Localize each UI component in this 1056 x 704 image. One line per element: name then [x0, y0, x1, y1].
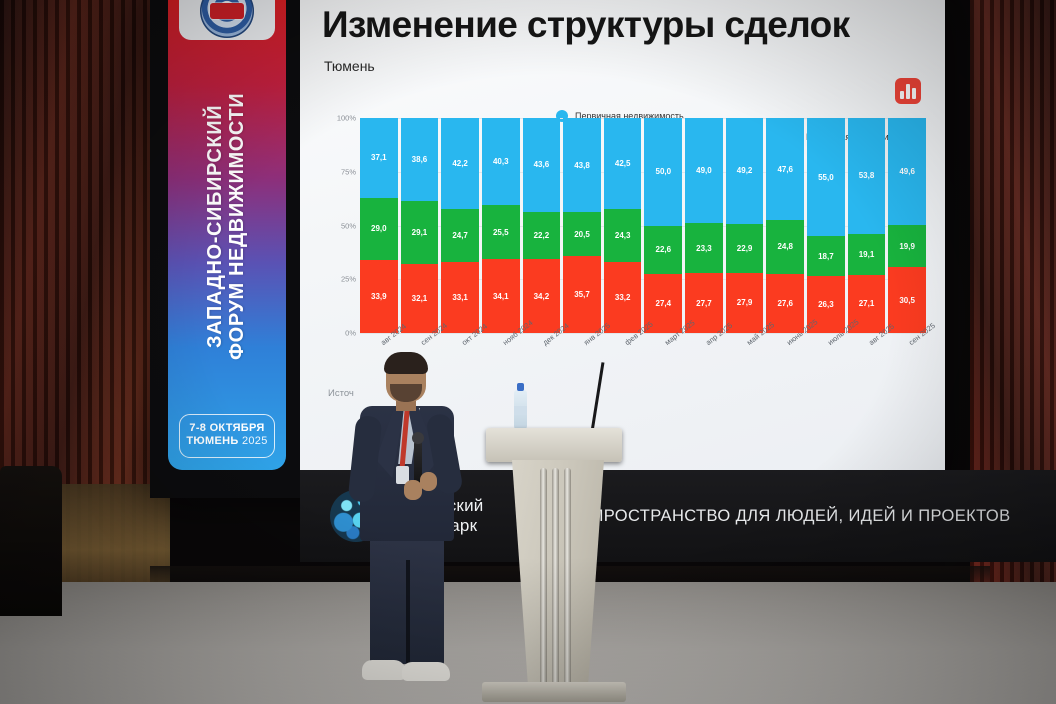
segment-value-label: 22,9 — [737, 244, 753, 253]
segment-value-label: 25,5 — [493, 228, 509, 237]
forum-banner-line2: ФОРУМ НЕДВИЖИМОСТИ — [227, 92, 249, 359]
segment-value-label: 55,0 — [818, 173, 834, 182]
segment-value-label: 34,2 — [534, 292, 550, 301]
x-axis-tick: нояб 2024 — [482, 334, 520, 392]
segment-primary: 50,0 — [644, 118, 682, 226]
shoe-right — [402, 662, 450, 681]
segment-value-label: 42,2 — [452, 159, 468, 168]
segment-primary: 43,8 — [563, 118, 601, 212]
plot-area: 37,129,033,938,629,132,142,224,733,140,3… — [360, 118, 926, 333]
segment-country: 24,7 — [441, 209, 479, 262]
chart-legend: Первичная недвижимость Вторичная недвижи… — [300, 0, 945, 120]
segment-value-label: 29,1 — [412, 228, 428, 237]
segment-value-label: 30,5 — [899, 296, 915, 305]
segment-country: 24,3 — [604, 209, 642, 261]
forum-city: ТЮМЕНЬ — [186, 435, 238, 447]
x-axis-tick: март 2025 — [644, 334, 682, 392]
segment-value-label: 32,1 — [412, 294, 428, 303]
segment-country: 19,1 — [848, 234, 886, 275]
segment-value-label: 49,6 — [899, 167, 915, 176]
segment-primary: 42,5 — [604, 118, 642, 209]
segment-value-label: 24,8 — [777, 242, 793, 251]
segment-primary: 38,6 — [401, 118, 439, 201]
segment-value-label: 27,6 — [777, 299, 793, 308]
shoe-left — [362, 660, 406, 680]
segment-value-label: 27,7 — [696, 299, 712, 308]
segment-country: 18,7 — [807, 236, 845, 276]
y-axis-tick: 25% — [341, 275, 356, 284]
segment-value-label: 53,8 — [859, 171, 875, 180]
segment-primary: 43,6 — [523, 118, 561, 212]
segment-value-label: 22,2 — [534, 231, 550, 240]
segment-value-label: 19,9 — [899, 242, 915, 251]
segment-value-label: 43,6 — [534, 160, 550, 169]
segment-primary: 47,6 — [766, 118, 804, 220]
y-axis-tick: 75% — [341, 167, 356, 176]
segment-secondary: 30,5 — [888, 267, 926, 333]
x-axis-tick: июль 2025 — [807, 334, 845, 392]
segment-value-label: 27,1 — [859, 299, 875, 308]
segment-primary: 37,1 — [360, 118, 398, 198]
x-axis-tick: фев 2025 — [604, 334, 642, 392]
segment-value-label: 27,4 — [656, 299, 672, 308]
segment-value-label: 26,3 — [818, 300, 834, 309]
segment-country: 29,1 — [401, 201, 439, 264]
x-axis-tick: авг 2025 — [848, 334, 886, 392]
bar-column: 49,023,327,7 — [685, 118, 723, 333]
x-axis-tick: янв 2025 — [563, 334, 601, 392]
segment-secondary: 32,1 — [401, 264, 439, 333]
speaker-person — [340, 354, 470, 704]
segment-country: 22,6 — [644, 226, 682, 275]
water-bottle — [514, 390, 527, 430]
segment-value-label: 22,6 — [656, 245, 672, 254]
segment-value-label: 43,8 — [574, 161, 590, 170]
forum-banner-title: ЗАПАДНО-СИБИРСКИЙ ФОРУМ НЕДВИЖИМОСТИ — [205, 92, 250, 359]
forum-logo — [179, 0, 275, 40]
bar-column: 55,018,726,3 — [807, 118, 845, 333]
segment-value-label: 40,3 — [493, 157, 509, 166]
x-axis-tick: май 2025 — [726, 334, 764, 392]
segment-value-label: 50,0 — [656, 167, 672, 176]
segment-value-label: 19,1 — [859, 250, 875, 259]
segment-country: 19,9 — [888, 225, 926, 268]
auditorium-stage: Изменение структуры сделок Тюмень Первич… — [0, 0, 1056, 704]
forum-banner: ЗАПАДНО-СИБИРСКИЙ ФОРУМ НЕДВИЖИМОСТИ 7-8… — [168, 0, 286, 470]
segment-primary: 53,8 — [848, 118, 886, 234]
segment-primary: 40,3 — [482, 118, 520, 205]
segment-value-label: 29,0 — [371, 224, 387, 233]
bar-column: 42,524,333,2 — [604, 118, 642, 333]
bar-column: 49,619,930,5 — [888, 118, 926, 333]
bar-column: 47,624,827,6 — [766, 118, 804, 333]
bar-column: 49,222,927,9 — [726, 118, 764, 333]
segment-country: 20,5 — [563, 212, 601, 256]
segment-value-label: 23,3 — [696, 244, 712, 253]
segment-country: 25,5 — [482, 205, 520, 260]
segment-value-label: 33,2 — [615, 293, 631, 302]
segment-primary: 49,6 — [888, 118, 926, 225]
bar-column: 43,622,234,2 — [523, 118, 561, 333]
x-axis-tick: дек 2024 — [523, 334, 561, 392]
segment-value-label: 24,3 — [615, 231, 631, 240]
forum-date-badge: 7-8 ОКТЯБРЯ ТЮМЕНЬ 2025 — [179, 414, 275, 459]
segment-value-label: 49,2 — [737, 166, 753, 175]
segment-primary: 42,2 — [441, 118, 479, 209]
y-axis-tick: 0% — [345, 329, 356, 338]
segment-primary: 49,0 — [685, 118, 723, 223]
segment-value-label: 47,6 — [777, 165, 793, 174]
segment-value-label: 33,1 — [452, 293, 468, 302]
segment-country: 29,0 — [360, 198, 398, 260]
presentation-screen: Изменение структуры сделок Тюмень Первич… — [150, 0, 945, 498]
segment-value-label: 35,7 — [574, 290, 590, 299]
segment-primary: 55,0 — [807, 118, 845, 236]
segment-value-label: 33,9 — [371, 292, 387, 301]
bar-column: 53,819,127,1 — [848, 118, 886, 333]
bar-column: 50,022,627,4 — [644, 118, 682, 333]
segment-secondary: 33,2 — [604, 262, 642, 333]
bar-column: 43,820,535,7 — [563, 118, 601, 333]
forum-year: 2025 — [242, 435, 268, 447]
bar-column: 42,224,733,1 — [441, 118, 479, 333]
segment-primary: 49,2 — [726, 118, 764, 224]
segment-value-label: 27,9 — [737, 298, 753, 307]
segment-secondary: 35,7 — [563, 256, 601, 333]
segment-country: 22,2 — [523, 212, 561, 260]
segment-value-label: 38,6 — [412, 155, 428, 164]
podium — [486, 428, 622, 700]
x-axis-tick: июнь 2025 — [766, 334, 804, 392]
segment-country: 23,3 — [685, 223, 723, 273]
segment-country: 22,9 — [726, 224, 764, 273]
forum-banner-line1: ЗАПАДНО-СИБИРСКИЙ — [205, 104, 227, 347]
segment-value-label: 20,5 — [574, 230, 590, 239]
bar-group: 37,129,033,938,629,132,142,224,733,140,3… — [360, 118, 926, 333]
x-axis-tick: апр 2025 — [685, 334, 723, 392]
y-axis-tick: 100% — [337, 114, 356, 123]
segment-value-label: 24,7 — [452, 231, 468, 240]
stacked-bar-chart: 100%75%50%25%0% 37,129,033,938,629,132,1… — [326, 118, 926, 353]
segment-secondary: 33,1 — [441, 262, 479, 333]
forum-date: 7-8 ОКТЯБРЯ — [184, 422, 270, 436]
segment-value-label: 49,0 — [696, 166, 712, 175]
forum-emblem-icon — [200, 0, 254, 38]
x-axis-tick: сен 2025 — [888, 334, 926, 392]
technopark-slogan: ПРОСТРАНСТВО ДЛЯ ЛЮДЕЙ, ИДЕЙ И ПРОЕКТОВ — [591, 507, 1010, 526]
segment-secondary: 33,9 — [360, 260, 398, 333]
segment-value-label: 18,7 — [818, 252, 834, 261]
segment-value-label: 37,1 — [371, 153, 387, 162]
segment-secondary: 34,1 — [482, 259, 520, 332]
segment-country: 24,8 — [766, 220, 804, 273]
segment-value-label: 34,1 — [493, 292, 509, 301]
bar-column: 38,629,132,1 — [401, 118, 439, 333]
stage-speaker-box — [0, 466, 62, 616]
segment-value-label: 42,5 — [615, 159, 631, 168]
y-axis-tick: 50% — [341, 221, 356, 230]
y-axis: 100%75%50%25%0% — [326, 118, 360, 333]
bar-column: 37,129,033,9 — [360, 118, 398, 333]
bar-column: 40,325,534,1 — [482, 118, 520, 333]
